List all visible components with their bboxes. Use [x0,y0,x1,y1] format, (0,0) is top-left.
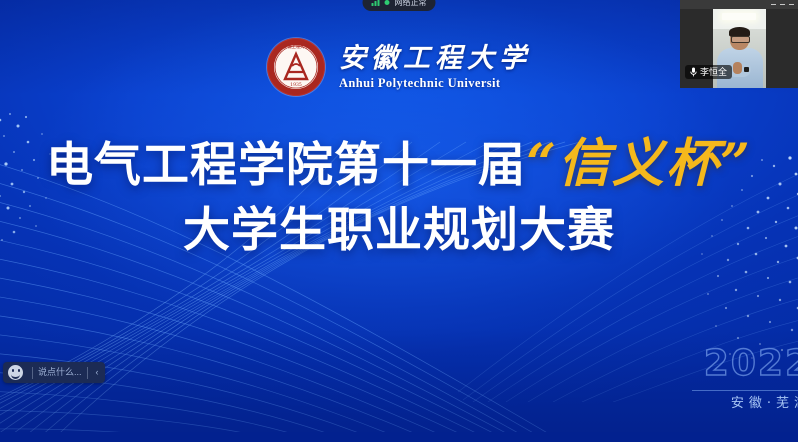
composer-divider [32,367,33,379]
composer-divider-2 [87,367,88,379]
microphone-icon [690,67,697,77]
close-icon[interactable] [789,4,794,5]
university-crest-icon: 1935 安徽工程大学 [267,38,325,96]
maximize-icon[interactable] [780,4,785,5]
slide-year: 2022 [692,346,798,382]
participant-name: 李恒全 [700,68,727,77]
smiley-face-icon[interactable] [8,365,23,380]
minimize-icon[interactable] [771,4,776,5]
svg-text:安徽工程大学: 安徽工程大学 [283,43,308,50]
wave-mesh-decoration-right [458,102,798,402]
chat-composer[interactable]: 说点什么... ‹ [3,362,105,383]
video-person-watch [744,67,749,72]
headline-line-2: 大学生职业规划大赛 [0,207,798,254]
video-person-hand [733,62,742,74]
particle-cluster-right [602,150,798,360]
headline-line-1-prefix: 电气工程学院第十一届 [46,138,526,193]
signal-bars-icon [372,0,380,6]
participant-nametag: 李恒全 [685,65,732,79]
particle-cluster-left [0,108,84,248]
svg-text:1935: 1935 [290,82,302,88]
network-status-pill[interactable]: 网络正常 [363,0,436,11]
selfview-video-tile[interactable]: 李恒全 [680,0,798,88]
university-chinese-name: 安徽工程大学 [339,45,531,72]
slide-footer: 2022 安徽·芜湖 [692,346,798,410]
university-wordmark: 安徽工程大学 Anhui Polytechnic Universit [339,45,531,90]
university-english-name: Anhui Polytechnic Universit [339,77,501,90]
shared-slide: 1935 安徽工程大学 安徽工程大学 Anhui Polytechnic Uni… [0,0,798,432]
bottom-strip [0,432,798,442]
headline-gold-text: 信义杯 [558,133,720,194]
chat-input-placeholder[interactable]: 说点什么... [38,368,82,377]
wave-mesh-decoration [0,132,580,432]
headline-line-1: 电气工程学院第十一届“信义杯” [0,138,798,190]
video-ceiling-light [722,13,756,20]
university-logo-block: 1935 安徽工程大学 安徽工程大学 Anhui Polytechnic Uni… [0,38,798,96]
chevron-left-icon[interactable]: ‹ [93,368,102,377]
selfview-titlebar [680,0,798,9]
network-status-label: 网络正常 [395,0,427,8]
slide-place: 安徽·芜湖 [692,397,798,410]
green-dot-icon [385,0,390,5]
video-person-glasses [731,36,750,43]
slide-headline: 电气工程学院第十一届“信义杯” 大学生职业规划大赛 [0,138,798,254]
footer-divider [692,390,798,391]
conference-screen: 1935 安徽工程大学 安徽工程大学 Anhui Polytechnic Uni… [0,0,798,442]
headline-quote-close: ” [720,133,752,194]
headline-quote-open: “ [526,133,558,194]
